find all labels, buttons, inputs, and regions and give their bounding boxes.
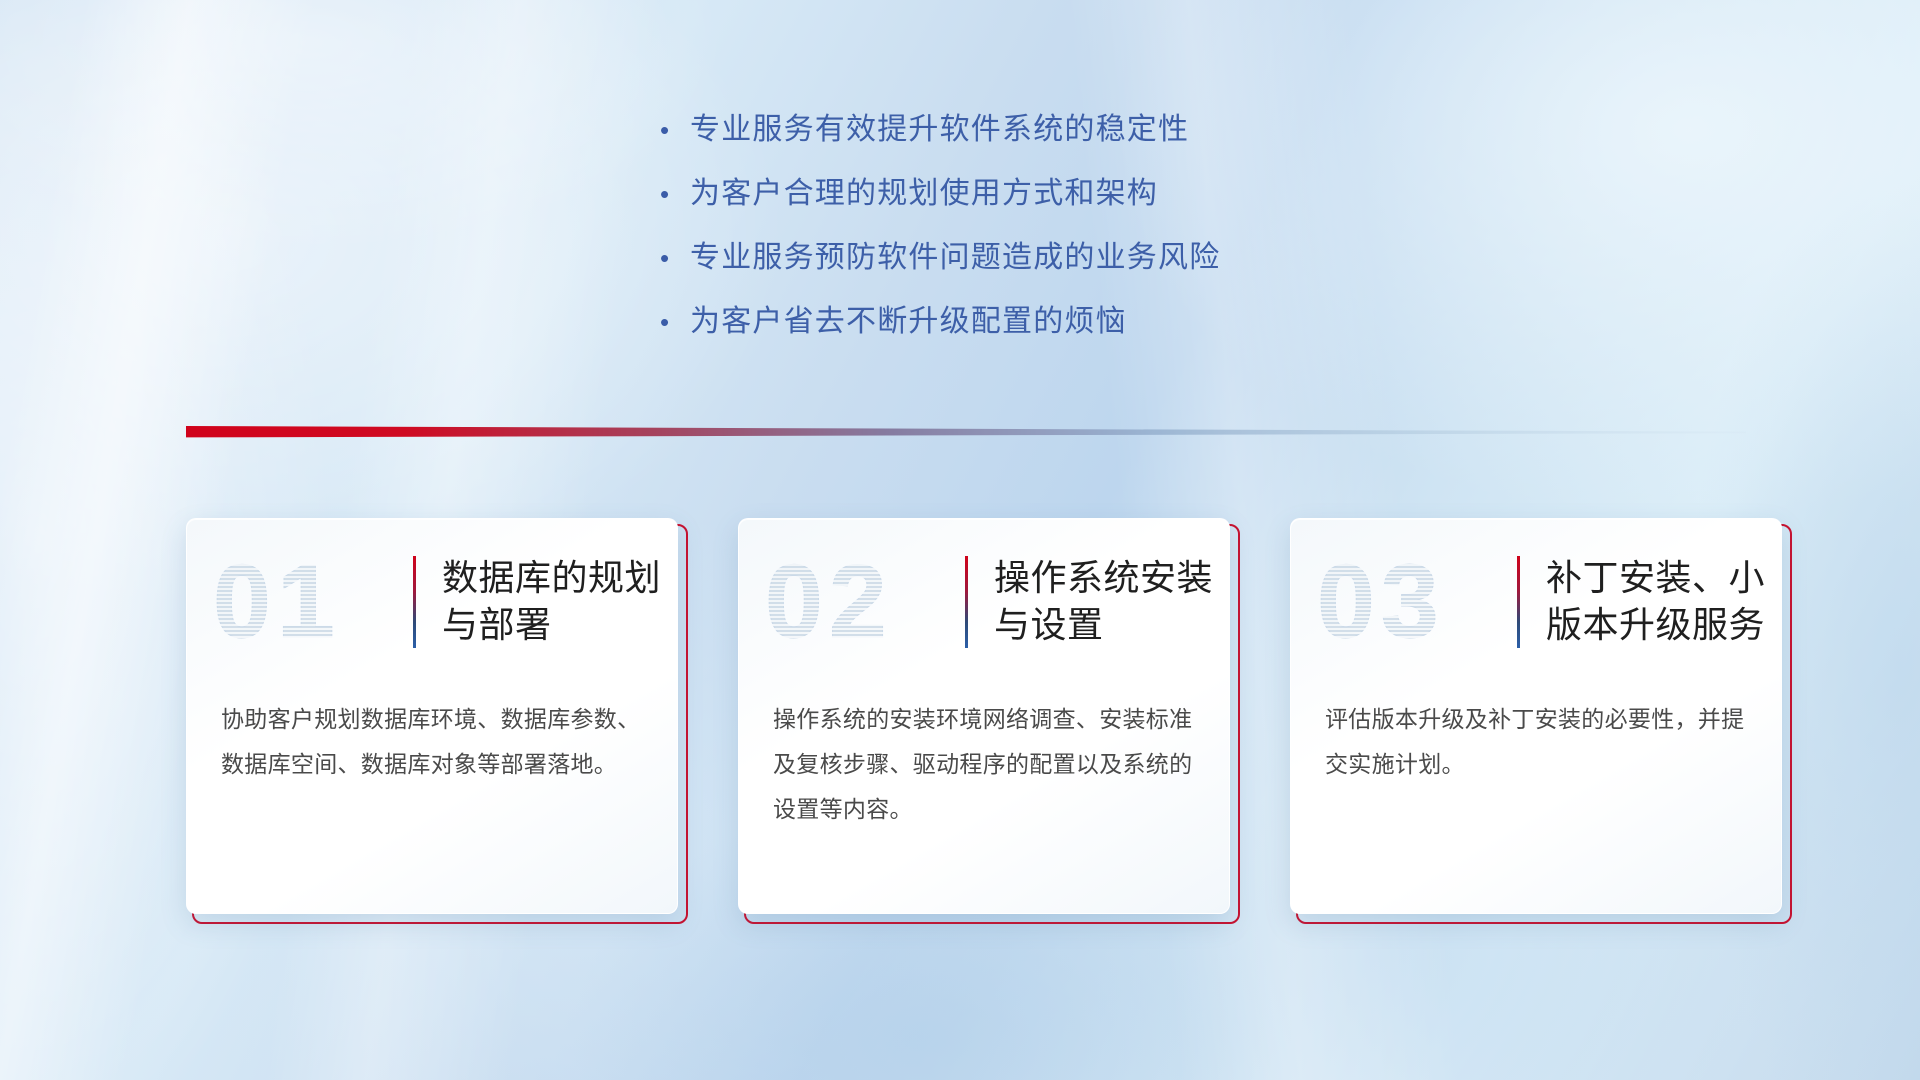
service-card-01[interactable]: 01 数据库的规划与部署 协助客户规划数据库环境、数据库参数、数据库空间、数据库… [186, 518, 682, 918]
bullet-dot-icon: • [660, 309, 690, 335]
bullet-text-1: 专业服务有效提升软件系统的稳定性 [690, 104, 1189, 148]
bullet-dot-icon: • [660, 181, 690, 207]
benefits-bullet-list: • 专业服务有效提升软件系统的稳定性 • 为客户合理的规划使用方式和架构 • 专… [660, 104, 1220, 360]
card-header: 02 操作系统安装与设置 [739, 519, 1229, 685]
list-item: • 为客户省去不断升级配置的烦恼 [660, 296, 1220, 360]
section-divider [186, 424, 1746, 442]
card-surface: 01 数据库的规划与部署 协助客户规划数据库环境、数据库参数、数据库空间、数据库… [186, 518, 678, 914]
card-description-01: 协助客户规划数据库环境、数据库参数、数据库空间、数据库对象等部署落地。 [187, 685, 677, 787]
card-surface: 03 补丁安装、小版本升级服务 评估版本升级及补丁安装的必要性，并提交实施计划。 [1290, 518, 1782, 914]
divider-wedge-icon [186, 424, 1746, 442]
list-item: • 为客户合理的规划使用方式和架构 [660, 168, 1220, 232]
card-header: 03 补丁安装、小版本升级服务 [1291, 519, 1781, 685]
bullet-text-4: 为客户省去不断升级配置的烦恼 [690, 296, 1127, 340]
service-card-03[interactable]: 03 补丁安装、小版本升级服务 评估版本升级及补丁安装的必要性，并提交实施计划。 [1290, 518, 1786, 918]
card-number-01: 01 [213, 550, 413, 654]
title-rule-divider [1517, 556, 1520, 648]
card-title-03: 补丁安装、小版本升级服务 [1546, 555, 1781, 649]
bullet-text-2: 为客户合理的规划使用方式和架构 [690, 168, 1158, 212]
list-item: • 专业服务预防软件问题造成的业务风险 [660, 232, 1220, 296]
card-number-03: 03 [1317, 550, 1517, 654]
card-title-01: 数据库的规划与部署 [442, 555, 677, 649]
card-description-03: 评估版本升级及补丁安装的必要性，并提交实施计划。 [1291, 685, 1781, 787]
list-item: • 专业服务有效提升软件系统的稳定性 [660, 104, 1220, 168]
card-description-02: 操作系统的安装环境网络调查、安装标准及复核步骤、驱动程序的配置以及系统的设置等内… [739, 685, 1229, 832]
bullet-dot-icon: • [660, 245, 690, 271]
bullet-dot-icon: • [660, 117, 690, 143]
card-title-02: 操作系统安装与设置 [994, 555, 1229, 649]
title-rule-divider [413, 556, 416, 648]
slide-canvas: • 专业服务有效提升软件系统的稳定性 • 为客户合理的规划使用方式和架构 • 专… [0, 0, 1920, 1080]
service-card-02[interactable]: 02 操作系统安装与设置 操作系统的安装环境网络调查、安装标准及复核步骤、驱动程… [738, 518, 1234, 918]
card-header: 01 数据库的规划与部署 [187, 519, 677, 685]
bullet-text-3: 专业服务预防软件问题造成的业务风险 [690, 232, 1220, 276]
service-cards: 01 数据库的规划与部署 协助客户规划数据库环境、数据库参数、数据库空间、数据库… [186, 518, 1786, 918]
card-number-02: 02 [765, 550, 965, 654]
card-surface: 02 操作系统安装与设置 操作系统的安装环境网络调查、安装标准及复核步骤、驱动程… [738, 518, 1230, 914]
title-rule-divider [965, 556, 968, 648]
